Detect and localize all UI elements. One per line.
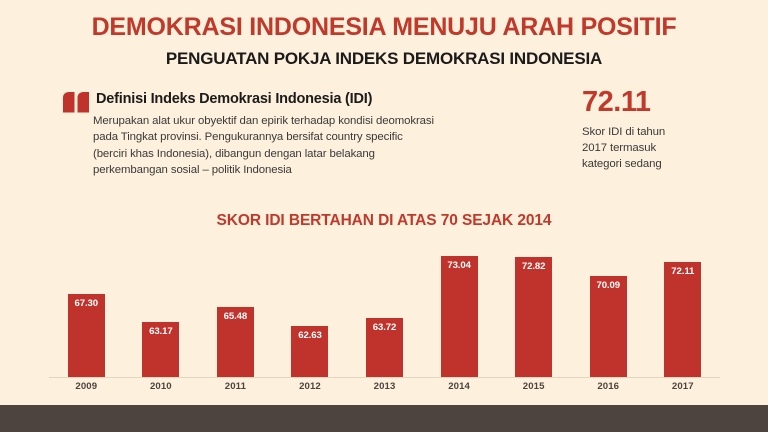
score-callout: 72.11 Skor IDI di tahun 2017 termasuk ka… [582, 88, 732, 173]
infographic-slide: DEMOKRASI INDONESIA MENUJU ARAH POSITIF … [0, 0, 768, 432]
x-axis-tick: 2015 [496, 381, 571, 392]
bar-value-label: 62.63 [298, 331, 322, 341]
score-value: 72.11 [582, 88, 732, 117]
bar-value-label: 63.17 [149, 327, 173, 337]
bar-slot: 73.04 [422, 246, 497, 377]
bar-slot: 62.63 [273, 246, 348, 377]
bar-slot: 67.30 [49, 246, 124, 377]
definition-block: Definisi Indeks Demokrasi Indonesia (IDI… [63, 90, 463, 178]
bar[interactable]: 63.72 [366, 318, 403, 377]
bar-slot: 63.72 [347, 246, 422, 377]
x-axis-tick: 2010 [124, 381, 199, 392]
x-axis-tick: 2013 [347, 381, 422, 392]
bar-slot: 72.11 [646, 246, 721, 377]
bar-slot: 65.48 [198, 246, 273, 377]
x-axis-tick: 2014 [422, 381, 497, 392]
bar-slot: 72.82 [496, 246, 571, 377]
bar-value-label: 67.30 [75, 299, 99, 309]
x-axis-line [49, 377, 720, 378]
definition-body: Merupakan alat ukur obyektif dan epirik … [93, 113, 438, 178]
x-axis-tick: 2012 [273, 381, 348, 392]
bar-value-label: 72.82 [522, 262, 546, 272]
x-axis-tick: 2009 [49, 381, 124, 392]
bar[interactable]: 67.30 [68, 294, 105, 377]
x-axis-tick: 2011 [198, 381, 273, 392]
bar-series: 67.3063.1765.4862.6363.7273.0472.8270.09… [49, 246, 720, 377]
score-caption: Skor IDI di tahun 2017 termasuk kategori… [582, 124, 692, 173]
x-axis-labels: 200920102011201220132014201520162017 [49, 381, 720, 392]
definition-body-text: Merupakan alat ukur obyektif dan epirik … [93, 113, 438, 178]
chart-title: SKOR IDI BERTAHAN DI ATAS 70 SEJAK 2014 [0, 212, 768, 230]
bar-value-label: 73.04 [447, 261, 471, 271]
definition-heading: Definisi Indeks Demokrasi Indonesia (IDI… [96, 90, 463, 108]
bar-value-label: 70.09 [596, 281, 620, 291]
bar[interactable]: 72.11 [664, 262, 701, 377]
x-axis-tick: 2016 [571, 381, 646, 392]
bar[interactable]: 65.48 [217, 307, 254, 377]
footer-band [0, 405, 768, 432]
x-axis-tick: 2017 [646, 381, 721, 392]
page-subtitle: PENGUATAN POKJA INDEKS DEMOKRASI INDONES… [0, 50, 768, 69]
bar[interactable]: 62.63 [291, 326, 328, 377]
bar[interactable]: 73.04 [441, 256, 478, 377]
bar-value-label: 63.72 [373, 323, 397, 333]
bar-slot: 63.17 [124, 246, 199, 377]
quote-mark-icon [63, 92, 93, 114]
bar-value-label: 65.48 [224, 312, 248, 322]
bar[interactable]: 72.82 [515, 257, 552, 377]
bar-slot: 70.09 [571, 246, 646, 377]
bar-value-label: 72.11 [671, 267, 694, 277]
header: DEMOKRASI INDONESIA MENUJU ARAH POSITIF … [0, 14, 768, 68]
bar-chart: 67.3063.1765.4862.6363.7273.0472.8270.09… [49, 246, 720, 378]
page-title: DEMOKRASI INDONESIA MENUJU ARAH POSITIF [0, 14, 768, 42]
bar[interactable]: 70.09 [590, 276, 627, 377]
bar[interactable]: 63.17 [142, 322, 179, 377]
